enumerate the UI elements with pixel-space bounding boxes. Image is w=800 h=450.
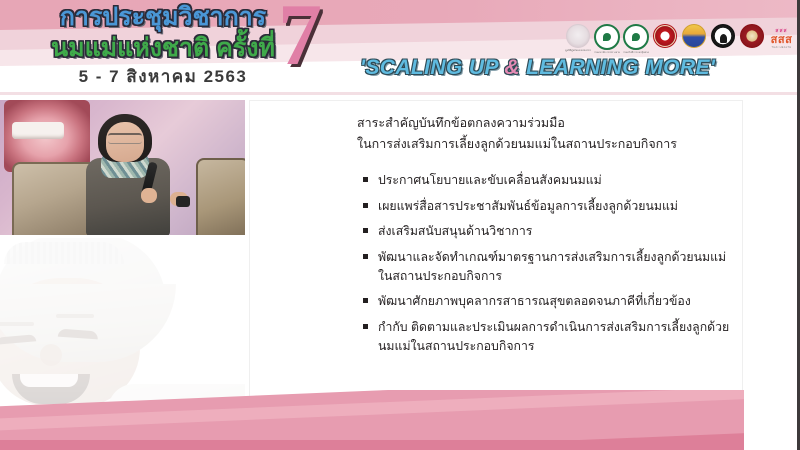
- partner-logo-strip: มูลนิธิศูนย์นมแม่แห่งประเทศไทย กรมอนามัย…: [566, 22, 794, 56]
- wedge-right-cutout: [744, 390, 800, 450]
- list-item: กำกับ ติดตามและประเมินผลการดำเนินการส่งเ…: [363, 318, 735, 356]
- garuda-red-seal-icon: [653, 24, 677, 48]
- armchair-right: [196, 158, 245, 235]
- list-item: พัฒนาและจัดทำเกณฑ์มาตรฐานการส่งเสริมการเ…: [363, 248, 735, 286]
- heading-line-2: ในการส่งเสริมการเลี้ยงลูกด้วยนมแม่ในสถาน…: [357, 134, 737, 155]
- logo-caption: มูลนิธิศูนย์นมแม่แห่งประเทศไทย: [565, 49, 591, 52]
- conference-title-line1: การประชุมวิชาการ: [18, 2, 308, 32]
- speaker-video-still: [0, 100, 245, 235]
- content-bullet-list: ประกาศนโยบายและขับเคลื่อนสังคมนมแม่ เผยแ…: [363, 171, 735, 362]
- conference-title-block: การประชุมวิชาการ นมแม่แห่งชาติ ครั้งที่ …: [18, 2, 308, 89]
- tagline-suffix: LEARNING MORE': [520, 56, 715, 79]
- sss-sub-text: THAI HEALTH: [772, 46, 792, 50]
- conference-dates: 5 - 7 สิงหาคม 2563: [18, 65, 308, 89]
- list-item: ประกาศนโยบายและขับเคลื่อนสังคมนมแม่: [363, 171, 735, 190]
- black-circle-emblem-logo: [711, 24, 735, 54]
- ministry-health-icon: [594, 24, 620, 50]
- sss-main-text: สสส: [771, 34, 793, 46]
- garuda-red-seal-logo: [653, 24, 677, 54]
- slide-content-panel: สาระสำคัญบันทึกข้อตกลงความร่วมมือ ในการส…: [249, 100, 743, 405]
- royal-emblem-icon: [566, 24, 590, 48]
- tagline-ampersand: &: [504, 56, 520, 79]
- heading-line-1: สาระสำคัญบันทึกข้อตกลงความร่วมมือ: [357, 113, 737, 134]
- list-item: เผยแพร่สื่อสารประชาสัมพันธ์ข้อมูลการเลี้…: [363, 197, 735, 216]
- speaker-eyeglasses: [108, 133, 142, 144]
- backdrop-teeth: [12, 122, 64, 139]
- wedge-base-strip: [0, 440, 800, 450]
- black-circle-emblem-icon: [711, 24, 735, 48]
- list-item: ส่งเสริมสนับสนุนด้านวิชาการ: [363, 222, 735, 241]
- ministry-public-health-logo: กรมอนามัย กระทรวงสาธารณสุข: [595, 24, 619, 54]
- red-royal-seal-icon: [740, 24, 764, 48]
- presentation-slide: การประชุมวิชาการ นมแม่แห่งชาติ ครั้งที่ …: [0, 0, 800, 450]
- speaker-hand-left: [141, 188, 157, 203]
- bottom-pink-wedge: [0, 390, 800, 450]
- thaihealth-sss-logo: สสส สสส THAI HEALTH: [769, 24, 794, 54]
- header-band-edge: [0, 92, 800, 95]
- content-heading: สาระสำคัญบันทึกข้อตกลงความร่วมมือ ในการส…: [357, 113, 737, 155]
- presenter-clicker: [176, 196, 190, 207]
- thai-national-emblem-logo: [682, 24, 706, 54]
- department-health-icon: [623, 24, 649, 50]
- logo-caption: กรมสวัสดิการและคุ้มครองแรงงาน: [623, 51, 649, 54]
- logo-caption: กรมอนามัย กระทรวงสาธารณสุข: [594, 51, 620, 54]
- conference-title-line2: นมแม่แห่งชาติ ครั้งที่: [18, 32, 308, 64]
- conference-tagline: 'SCALING UP & LEARNING MORE': [360, 56, 715, 80]
- tagline-prefix: 'SCALING UP: [360, 56, 504, 79]
- thai-national-emblem-icon: [682, 24, 706, 48]
- red-royal-seal-logo: [740, 24, 764, 54]
- department-health-logo: กรมสวัสดิการและคุ้มครองแรงงาน: [624, 24, 648, 54]
- list-item: พัฒนาศักยภาพบุคลากรสาธารณสุขตลอดจนภาคีที…: [363, 292, 735, 311]
- royal-emblem-logo: มูลนิธิศูนย์นมแม่แห่งประเทศไทย: [566, 24, 590, 54]
- slide-header-banner: การประชุมวิชาการ นมแม่แห่งชาติ ครั้งที่ …: [0, 0, 800, 95]
